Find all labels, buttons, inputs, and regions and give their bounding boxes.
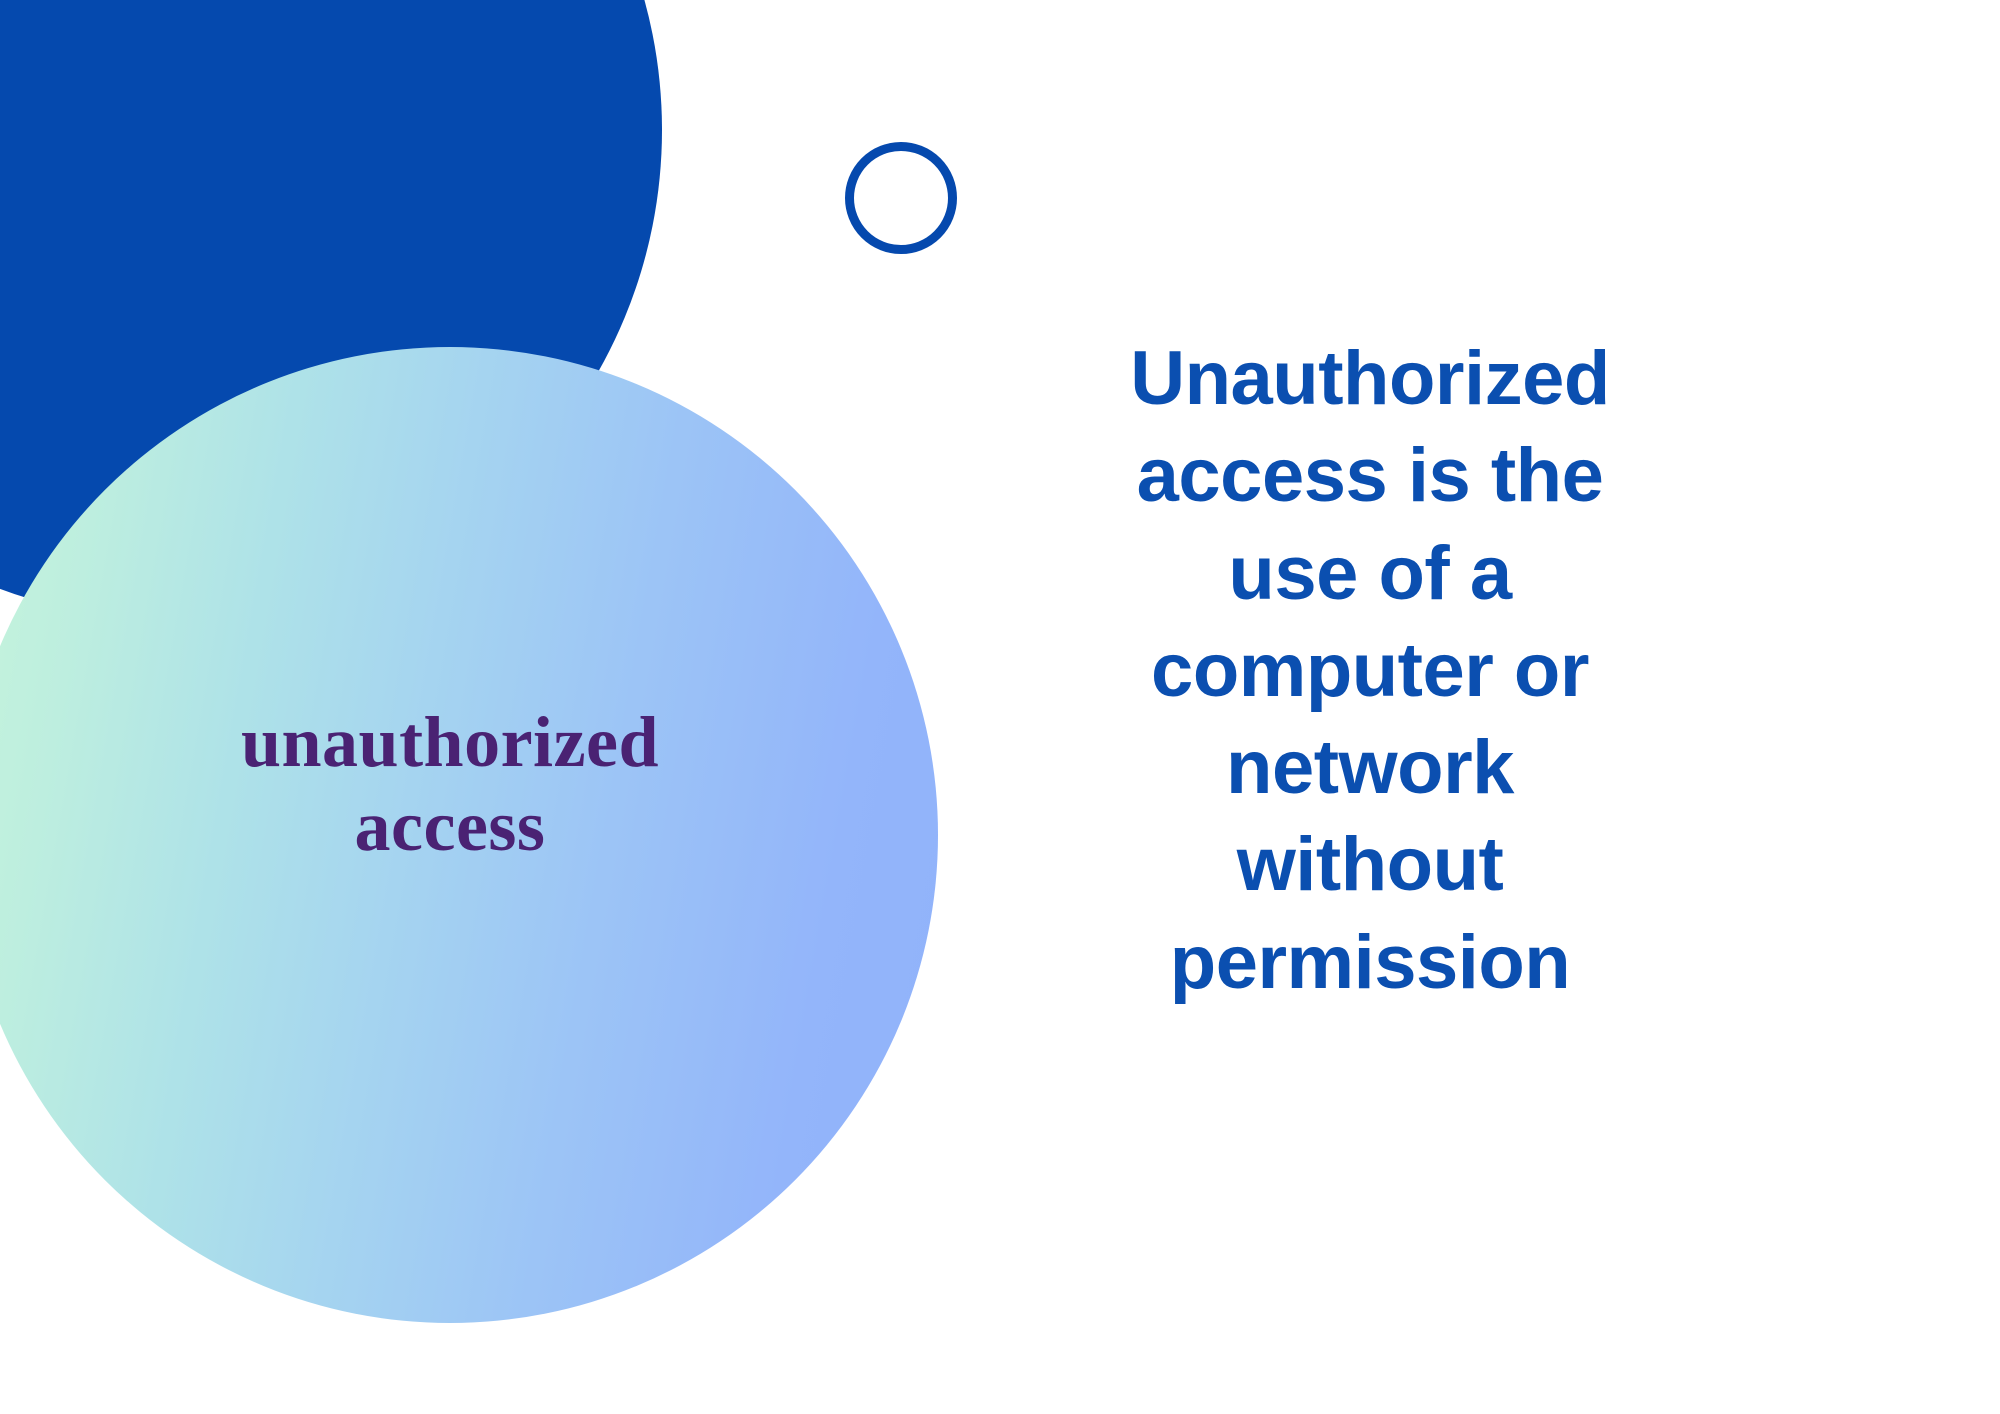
headline-line-7: permission: [1060, 914, 1680, 1011]
circle-caption-line-2: access: [0, 784, 938, 868]
headline-line-6: without: [1060, 816, 1680, 913]
headline: Unauthorized access is the use of a comp…: [1060, 330, 1680, 1011]
slide-canvas: unauthorized access Unauthorized access …: [0, 0, 2000, 1414]
headline-line-5: network: [1060, 719, 1680, 816]
headline-line-1: Unauthorized: [1060, 330, 1680, 427]
circle-caption-line-1: unauthorized: [0, 700, 938, 784]
headline-line-3: use of a: [1060, 525, 1680, 622]
circle-caption: unauthorized access: [0, 700, 938, 868]
headline-line-2: access is the: [1060, 427, 1680, 524]
ring-outline-circle-icon: [845, 142, 957, 254]
headline-line-4: computer or: [1060, 622, 1680, 719]
